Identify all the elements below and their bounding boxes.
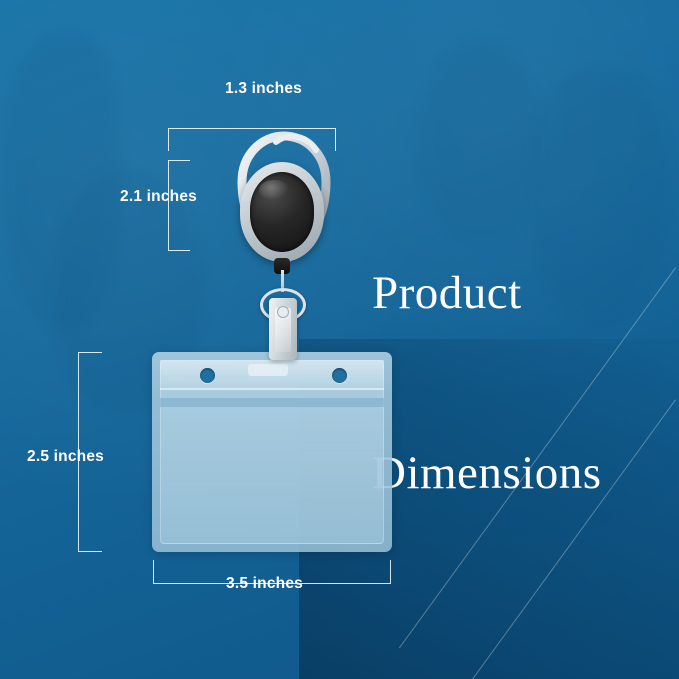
bracket-reel-height-tick-top bbox=[168, 160, 190, 161]
badge-reel-assembly bbox=[228, 130, 340, 370]
bracket-reel-width-tick-left bbox=[168, 128, 169, 151]
dimension-label-holder-height: 2.5 inches bbox=[27, 448, 104, 466]
badge-reel-highlight bbox=[259, 180, 289, 200]
id-card-holder-hole-right bbox=[332, 368, 347, 383]
bracket-reel-width bbox=[168, 128, 336, 129]
bracket-holder-height-tick-top bbox=[78, 352, 102, 353]
id-card-holder bbox=[152, 352, 392, 552]
vinyl-strap-clip-stud bbox=[277, 306, 289, 318]
bracket-reel-height-tick-bottom bbox=[168, 250, 190, 251]
dimension-label-reel-height: 2.1 inches bbox=[120, 188, 197, 206]
bracket-holder-height-tick-bottom bbox=[78, 551, 102, 552]
id-card-holder-seal-line bbox=[160, 388, 384, 390]
bracket-holder-width-tick-left bbox=[153, 560, 154, 583]
product-dimensions-image: Product Dimensions 1.3 inches 2.1 inches… bbox=[0, 0, 679, 679]
id-card-holder-seal-band bbox=[160, 398, 384, 407]
id-card-holder-hole-left bbox=[200, 368, 215, 383]
page-title-line-2: Dimensions bbox=[372, 443, 602, 503]
bracket-holder-width-tick-right bbox=[390, 560, 391, 583]
dimension-label-holder-width: 3.5 inches bbox=[226, 575, 303, 593]
page-title: Product Dimensions bbox=[372, 143, 602, 623]
dimension-label-reel-width: 1.3 inches bbox=[225, 80, 302, 98]
page-title-line-1: Product bbox=[372, 263, 602, 323]
